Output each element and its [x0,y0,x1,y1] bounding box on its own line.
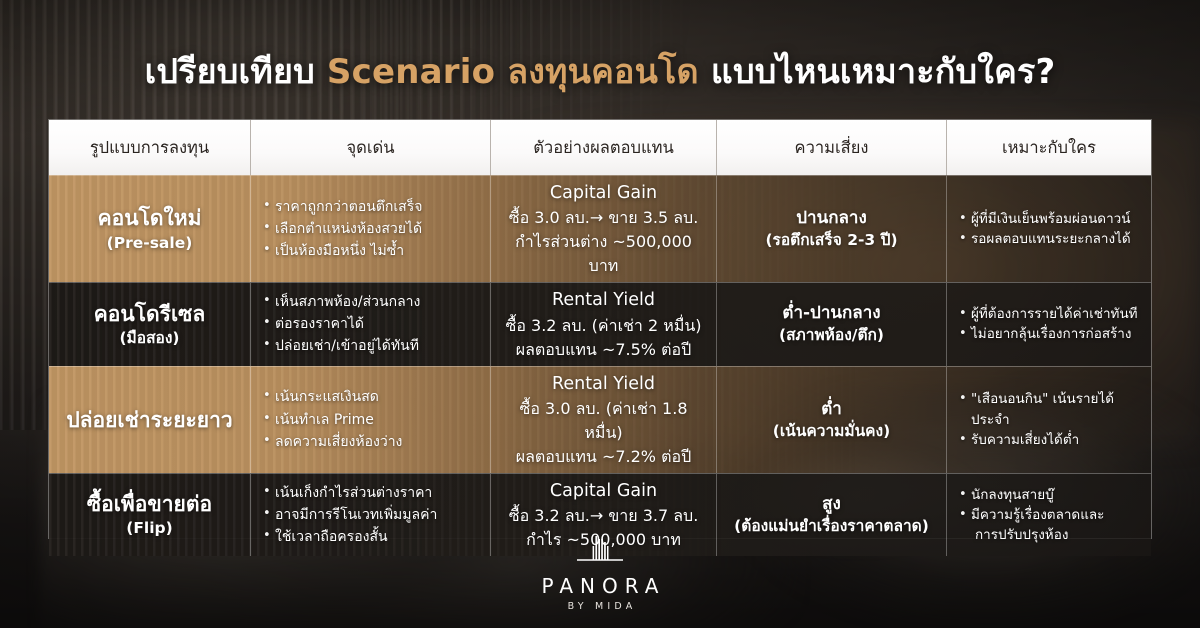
page-title-accent: Scenario ลงทุนคอนโด [327,52,699,92]
return-detail-line: ผลตอบแทน ~7.2% ต่อปี [501,445,706,469]
suitable-for-item: รับความเสี่ยงได้ต่ำ [957,430,1141,450]
cell-highlights: ราคาถูกกว่าตอนตึกเสร็จเลือกตำแหน่งห้องสว… [251,175,491,282]
return-detail-line: ผลตอบแทน ~7.5% ต่อปี [501,338,706,362]
cell-highlights: เน้นกระแสเงินสดเน้นทำเล Primeลดความเสี่ย… [251,366,491,473]
table-row: คอนโดรีเซล(มือสอง)เห็นสภาพห้อง/ส่วนกลางต… [49,282,1151,365]
highlight-item: เน้นทำเล Prime [261,409,480,431]
suitable-for-text: ไม่อยากลุ้นเรื่องการก่อสร้าง [971,326,1131,342]
suitable-for-item: รอผลตอบแทนระยะกลางได้ [957,229,1141,249]
column-header-highlights: จุดเด่น [251,120,491,175]
table-header-row: รูปแบบการลงทุน จุดเด่น ตัวอย่างผลตอบแทน … [49,120,1151,175]
return-detail-line: ซื้อ 3.0 ลบ. (ค่าเช่า 1.8 หมื่น) [501,397,706,445]
risk-note: (เน้นความมั่นคง) [727,421,936,442]
table-row: คอนโดใหม่(Pre-sale)ราคาถูกกว่าตอนตึกเสร็… [49,175,1151,282]
column-header-example-return: ตัวอย่างผลตอบแทน [491,120,717,175]
investment-type-name: ซื้อเพื่อขายต่อ [59,491,240,517]
highlight-item: เน้นกระแสเงินสด [261,386,480,408]
risk-note: (รอตึกเสร็จ 2-3 ปี) [727,230,936,251]
cell-example-return: Capital Gainซื้อ 3.0 ลบ.→ ขาย 3.5 ลบ.กำไ… [491,175,717,282]
cell-risk: ต่ำ-ปานกลาง(สภาพห้อง/ตึก) [717,282,947,365]
cell-suitable-for: "เสือนอนกิน" เน้นรายได้ประจำรับความเสี่ย… [947,366,1151,473]
page-title-lead: เปรียบเทียบ [145,52,327,92]
highlight-item: ลดความเสี่ยงห้องว่าง [261,431,480,453]
suitable-for-text: ผู้ที่มีเงินเย็นพร้อมผ่อนดาวน์ [971,211,1130,227]
column-header-suitable-for: เหมาะกับใคร [947,120,1151,175]
suitable-for-text: "เสือนอนกิน" เน้นรายได้ประจำ [971,391,1114,427]
cell-example-return: Rental Yieldซื้อ 3.0 ลบ. (ค่าเช่า 1.8 หม… [491,366,717,473]
cell-risk: ต่ำ(เน้นความมั่นคง) [717,366,947,473]
cell-example-return: Rental Yieldซื้อ 3.2 ลบ. (ค่าเช่า 2 หมื่… [491,282,717,365]
return-type: Rental Yield [501,371,706,397]
column-header-investment-type: รูปแบบการลงทุน [49,120,251,175]
suitable-for-item: ผู้ที่ต้องการรายได้ค่าเช่าทันที [957,304,1141,324]
return-detail-line: ซื้อ 3.0 ลบ.→ ขาย 3.5 ลบ. [501,206,706,230]
highlight-item: เลือกตำแหน่งห้องสวยได้ [261,218,480,240]
suitable-for-item: นักลงทุนสายบู๊ [957,485,1141,505]
risk-level: สูง [727,493,936,516]
highlight-item: ราคาถูกกว่าตอนตึกเสร็จ [261,196,480,218]
investment-type-name: คอนโดรีเซล [59,301,240,327]
highlight-item: เป็นห้องมือหนึ่ง ไม่ซ้ำ [261,240,480,262]
cell-investment-type: คอนโดใหม่(Pre-sale) [49,175,251,282]
suitable-for-item: "เสือนอนกิน" เน้นรายได้ประจำ [957,389,1141,430]
suitable-for-text: นักลงทุนสายบู๊ [971,487,1054,503]
return-type: Rental Yield [501,287,706,313]
table-row: ปล่อยเช่าระยะยาวเน้นกระแสเงินสดเน้นทำเล … [49,366,1151,473]
cell-investment-type: ปล่อยเช่าระยะยาว [49,366,251,473]
return-detail-line: กำไรส่วนต่าง ~500,000 บาท [501,230,706,278]
suitable-for-text: รอผลตอบแทนระยะกลางได้ [971,231,1131,247]
investment-type-name: คอนโดใหม่ [59,205,240,231]
comparison-table: รูปแบบการลงทุน จุดเด่น ตัวอย่างผลตอบแทน … [48,119,1152,539]
suitable-for-text: มีความรู้เรื่องตลาดและ [971,507,1104,523]
return-detail-line: ซื้อ 3.2 ลบ. (ค่าเช่า 2 หมื่น) [501,314,706,338]
risk-note: (สภาพห้อง/ตึก) [727,325,936,346]
suitable-for-item: ไม่อยากลุ้นเรื่องการก่อสร้าง [957,324,1141,344]
investment-type-name: ปล่อยเช่าระยะยาว [59,407,240,433]
return-detail-line: ซื้อ 3.2 ลบ.→ ขาย 3.7 ลบ. [501,504,706,528]
brand-logo: PANORA BY MIDA [0,533,1200,612]
cell-suitable-for: ผู้ที่มีเงินเย็นพร้อมผ่อนดาวน์รอผลตอบแทน… [947,175,1151,282]
risk-level: ต่ำ-ปานกลาง [727,302,936,325]
suitable-for-text: รับความเสี่ยงได้ต่ำ [971,432,1079,448]
table-body: คอนโดใหม่(Pre-sale)ราคาถูกกว่าตอนตึกเสร็… [49,175,1151,540]
highlight-item: อาจมีการรีโนเวทเพิ่มมูลค่า [261,504,480,526]
highlight-item: ต่อรองราคาได้ [261,313,480,335]
risk-level: ปานกลาง [727,207,936,230]
suitable-for-text: ผู้ที่ต้องการรายได้ค่าเช่าทันที [971,306,1138,322]
highlight-item: เห็นสภาพห้อง/ส่วนกลาง [261,291,480,313]
suitable-for-item: ผู้ที่มีเงินเย็นพร้อมผ่อนดาวน์ [957,209,1141,229]
return-type: Capital Gain [501,478,706,504]
highlight-item: ปล่อยเช่า/เข้าอยู่ได้ทันที [261,335,480,357]
cell-investment-type: คอนโดรีเซล(มือสอง) [49,282,251,365]
investment-type-subtitle: (มือสอง) [59,328,240,348]
brand-tagline: BY MIDA [564,601,637,612]
cell-highlights: เห็นสภาพห้อง/ส่วนกลางต่อรองราคาได้ปล่อยเ… [251,282,491,365]
column-header-risk: ความเสี่ยง [717,120,947,175]
risk-level: ต่ำ [727,398,936,421]
page-title: เปรียบเทียบ Scenario ลงทุนคอนโด แบบไหนเห… [0,44,1200,98]
highlight-item: เน้นเก็งกำไรส่วนต่างราคา [261,482,480,504]
page-title-trail: แบบไหนเหมาะกับใคร? [699,52,1056,92]
building-icon [574,533,626,571]
cell-suitable-for: ผู้ที่ต้องการรายได้ค่าเช่าทันทีไม่อยากลุ… [947,282,1151,365]
return-type: Capital Gain [501,180,706,206]
investment-type-subtitle: (Pre-sale) [59,233,240,253]
brand-name: PANORA [535,574,666,598]
cell-risk: ปานกลาง(รอตึกเสร็จ 2-3 ปี) [717,175,947,282]
